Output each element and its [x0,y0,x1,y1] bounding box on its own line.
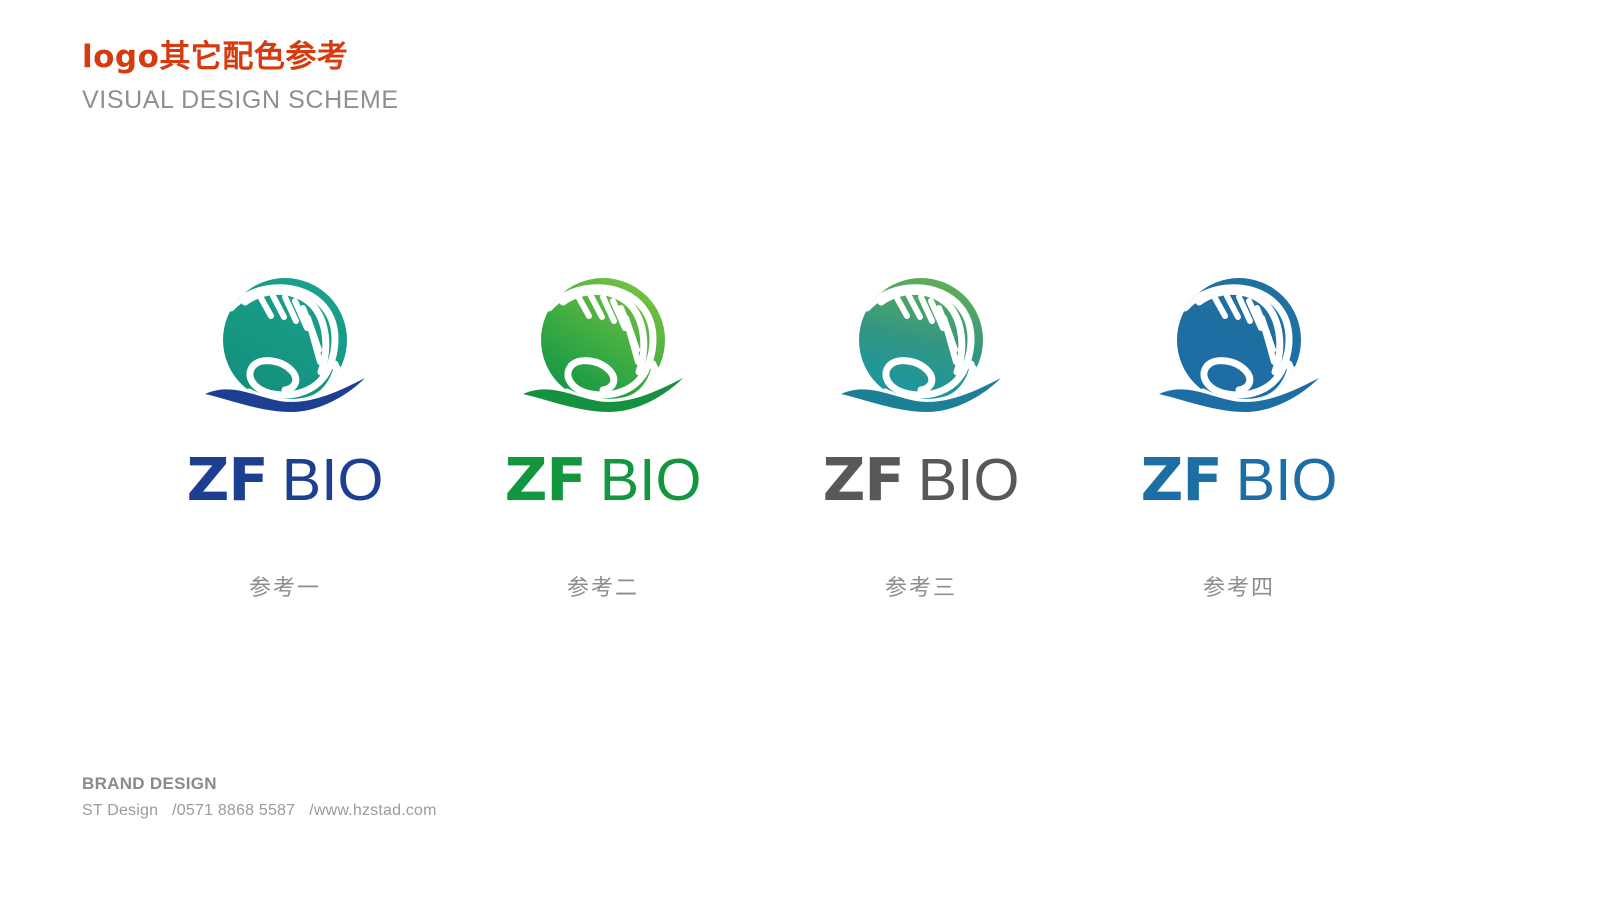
logo-caption: 参考四 [1203,570,1275,602]
wordmark-bio: BIO [1236,451,1338,510]
logo-caption: 参考二 [567,570,639,602]
logo-caption: 参考一 [249,570,321,602]
wordmark-bio: BIO [282,451,384,510]
logo-wordmark: ZF BIO [187,450,384,510]
wordmark-bio: BIO [600,451,702,510]
logo-variant-4[interactable]: ZF BIO 参考四 [1080,272,1398,602]
logo-wordmark: ZF BIO [823,450,1020,510]
wordmark-zf: ZF [187,450,268,509]
footer-brand-label: BRAND DESIGN [82,774,437,794]
logo-mark-icon [505,272,701,432]
logo-variant-3[interactable]: ZF BIO 参考三 [762,272,1080,602]
wordmark-bio: BIO [918,451,1020,510]
logo-variant-2[interactable]: ZF BIO 参考二 [444,272,762,602]
logo-wordmark: ZF BIO [1141,450,1338,510]
page-header: logo其它配色参考 VISUAL DESIGN SCHEME [82,40,399,115]
page-title: logo其它配色参考 [82,40,399,76]
wordmark-zf: ZF [823,450,904,509]
page-subtitle: VISUAL DESIGN SCHEME [82,86,399,115]
logo-wordmark: ZF BIO [505,450,702,510]
logo-mark-icon [823,272,1019,432]
logo-variant-1[interactable]: ZF BIO 参考一 [126,272,444,602]
logo-variant-grid: ZF BIO 参考一 [0,272,1600,602]
logo-mark-icon [1141,272,1337,432]
wordmark-zf: ZF [505,450,586,509]
logo-mark-icon [187,272,383,432]
page-footer: BRAND DESIGN ST Design /0571 8868 5587 /… [82,774,437,820]
wordmark-zf: ZF [1141,450,1222,509]
logo-caption: 参考三 [885,570,957,602]
footer-contact-info: ST Design /0571 8868 5587 /www.hzstad.co… [82,802,437,820]
